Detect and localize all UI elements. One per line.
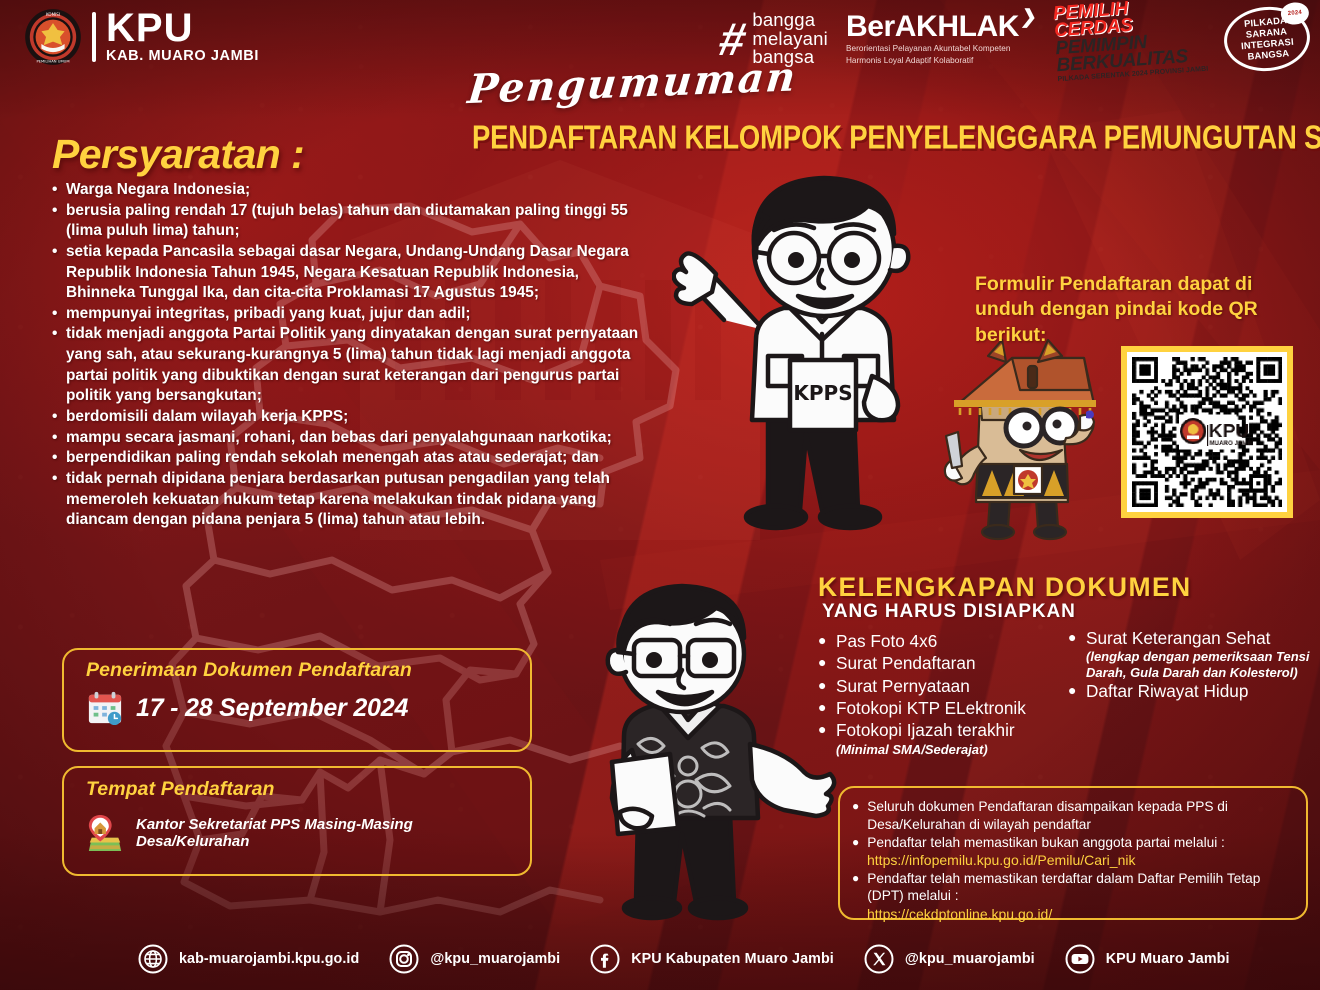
- bullet-icon: •: [52, 324, 60, 345]
- penerimaan-date-value: 17 - 28 September 2024: [136, 694, 408, 723]
- document-item: ●Surat Keterangan Sehat: [1068, 627, 1318, 649]
- qr-code-frame[interactable]: [1121, 346, 1293, 518]
- kpps-badge-text: KPPS: [793, 381, 852, 405]
- bullet-icon: ●: [852, 870, 859, 887]
- note-text: Pendaftar telah memastikan bukan anggota…: [867, 834, 1225, 852]
- requirement-text: mempunyai integritas, pribadi yang kuat,…: [66, 304, 652, 325]
- document-item: ●Daftar Riwayat Hidup: [1068, 680, 1318, 702]
- bullet-icon: •: [52, 242, 60, 263]
- bullet-icon: •: [52, 469, 60, 490]
- footer-social-label: @kpu_muarojambi: [430, 951, 560, 967]
- document-label: Fotokopi Ijazah terakhir: [836, 719, 1015, 741]
- penerimaan-dokumen-card: Penerimaan Dokumen Pendaftaran 17 - 28 S…: [62, 648, 532, 752]
- note-link[interactable]: https://cekdptonline.kpu.go.id/: [867, 905, 1292, 923]
- tempat-pendaftaran-card: Tempat Pendaftaran Kantor Sekretariat PP…: [62, 766, 532, 876]
- bullet-icon: ●: [1068, 680, 1077, 700]
- bullet-icon: ●: [852, 834, 859, 851]
- kelengkapan-left-item: ●Fotokopi KTP ELektronik: [818, 697, 1058, 719]
- ballot-box-mascot-illustration: [928, 338, 1114, 544]
- penerimaan-card-title: Penerimaan Dokumen Pendaftaran: [86, 659, 530, 682]
- tempat-value: Kantor Sekretariat PPS Masing-Masing Des…: [136, 816, 530, 850]
- kpu-seal-icon: KOMISI PEMILIHAN UMUM: [24, 8, 82, 66]
- page-title: PENDAFTARAN KELOMPOK PENYELENGGARA PEMUN…: [472, 118, 1320, 157]
- pilkada-badge-year: 2024: [1280, 1, 1310, 25]
- requirement-text: berdomisili dalam wilayah kerja KPPS;: [66, 407, 652, 428]
- bullet-icon: •: [52, 201, 60, 222]
- bullet-icon: •: [52, 407, 60, 428]
- bullet-icon: •: [52, 428, 60, 449]
- bangga-line-1: bangga: [752, 11, 828, 30]
- requirement-item: •mampu secara jasmani, rohani, dan bebas…: [52, 428, 652, 449]
- kelengkapan-column-right: ●Surat Keterangan Sehat(lengkap dengan p…: [1068, 627, 1318, 702]
- document-label: Pas Foto 4x6: [836, 630, 937, 652]
- kpu-logo-lockup: KOMISI PEMILIHAN UMUM KPU KAB. MUARO JAM…: [24, 8, 259, 66]
- bullet-icon: ●: [818, 719, 827, 739]
- document-label: Surat Pendaftaran: [836, 652, 976, 674]
- requirement-item: •setia kepada Pancasila sebagai dasar Ne…: [52, 242, 652, 304]
- kelengkapan-column-left: ●Pas Foto 4x6●Surat Pendaftaran●Surat Pe…: [818, 630, 1058, 757]
- poster-canvas: KOMISI PEMILIHAN UMUM KPU KAB. MUARO JAM…: [0, 0, 1320, 990]
- footer-social-item[interactable]: kab-muarojambi.kpu.go.id: [138, 944, 359, 974]
- note-link[interactable]: https://infopemilu.kpu.go.id/Pemilu/Cari…: [867, 851, 1292, 869]
- requirement-item: •berpendidikan paling rendah sekolah men…: [52, 448, 652, 469]
- svg-text:KOMISI: KOMISI: [46, 12, 60, 17]
- bullet-icon: ●: [818, 630, 827, 650]
- requirement-text: Warga Negara Indonesia;: [66, 180, 652, 201]
- footer-social-item[interactable]: KPU Kabupaten Muaro Jambi: [590, 944, 834, 974]
- note-text: Seluruh dokumen Pendaftaran disampaikan …: [867, 798, 1292, 834]
- requirement-item: •tidak pernah dipidana penjara berdasark…: [52, 469, 652, 531]
- bullet-icon: ●: [818, 675, 827, 695]
- note-text: Pendaftar telah memastikan terdaftar dal…: [867, 870, 1292, 906]
- requirement-text: berusia paling rendah 17 (tujuh belas) t…: [66, 201, 652, 242]
- requirement-item: •mempunyai integritas, pribadi yang kuat…: [52, 304, 652, 325]
- requirements-heading: Persyaratan :: [52, 131, 304, 178]
- requirement-text: tidak menjadi anggota Partai Politik yan…: [66, 324, 652, 407]
- logo-divider: [92, 12, 96, 62]
- kelengkapan-dokumen-subtitle: YANG HARUS DISIAPKAN: [822, 601, 1076, 623]
- facebook-icon[interactable]: [590, 944, 620, 974]
- bullet-icon: •: [52, 180, 60, 201]
- document-label: Surat Keterangan Sehat: [1086, 627, 1270, 649]
- footer-social-label: KPU Muaro Jambi: [1106, 951, 1230, 967]
- footer-social-label: kab-muarojambi.kpu.go.id: [179, 951, 359, 967]
- document-note: (lengkap dengan pemeriksaan Tensi Darah,…: [1086, 649, 1318, 679]
- bullet-icon: ●: [818, 697, 827, 717]
- calendar-icon: [86, 690, 124, 726]
- document-label: Fotokopi KTP ELektronik: [836, 697, 1026, 719]
- map-pin-icon: [86, 813, 124, 853]
- document-note: (Minimal SMA/Sederajat): [836, 742, 1058, 757]
- document-item: ●Fotokopi KTP ELektronik: [818, 697, 1058, 719]
- footer-social-label: KPU Kabupaten Muaro Jambi: [631, 951, 834, 967]
- document-item: ●Surat Pernyataan: [818, 675, 1058, 697]
- kelengkapan-right-item: ●Surat Keterangan Sehat(lengkap dengan p…: [1068, 627, 1318, 680]
- requirements-list: •Warga Negara Indonesia;•berusia paling …: [52, 180, 652, 531]
- requirement-text: tidak pernah dipidana penjara berdasarka…: [66, 469, 652, 531]
- document-item: ●Pas Foto 4x6: [818, 630, 1058, 652]
- bullet-icon: •: [52, 448, 60, 469]
- globe-icon[interactable]: [138, 944, 168, 974]
- requirement-item: •Warga Negara Indonesia;: [52, 180, 652, 201]
- instagram-icon[interactable]: [389, 944, 419, 974]
- kpps-officer-illustration: KPPS: [672, 162, 972, 544]
- requirement-item: •berdomisili dalam wilayah kerja KPPS;: [52, 407, 652, 428]
- document-item: ●Fotokopi Ijazah terakhir: [818, 719, 1058, 741]
- note-entry: ●Pendaftar telah memastikan terdaftar da…: [852, 870, 1292, 924]
- requirement-text: setia kepada Pancasila sebagai dasar Neg…: [66, 242, 652, 304]
- document-item: ●Surat Pendaftaran: [818, 652, 1058, 674]
- bullet-icon: •: [52, 304, 60, 325]
- kelengkapan-right-item: ●Daftar Riwayat Hidup: [1068, 680, 1318, 702]
- footer-social-item[interactable]: @kpu_muarojambi: [389, 944, 560, 974]
- footer-social-item[interactable]: KPU Muaro Jambi: [1065, 944, 1230, 974]
- requirement-item: •tidak menjadi anggota Partai Politik ya…: [52, 324, 652, 407]
- tempat-card-title: Tempat Pendaftaran: [86, 778, 530, 801]
- document-label: Daftar Riwayat Hidup: [1086, 680, 1248, 702]
- bullet-icon: ●: [818, 652, 827, 672]
- requirement-text: mampu secara jasmani, rohani, dan bebas …: [66, 428, 652, 449]
- qr-code-image[interactable]: [1132, 357, 1282, 507]
- youtube-icon[interactable]: [1065, 944, 1095, 974]
- footer-social-item[interactable]: @kpu_muarojambi: [864, 944, 1035, 974]
- requirement-text: berpendidikan paling rendah sekolah mene…: [66, 448, 652, 469]
- batik-man-illustration: [578, 566, 840, 938]
- note-item: ●Pendaftar telah memastikan bukan anggot…: [852, 834, 1292, 852]
- kelengkapan-dokumen-title: KELENGKAPAN DOKUMEN: [818, 572, 1192, 603]
- note-item: ●Seluruh dokumen Pendaftaran disampaikan…: [852, 798, 1292, 834]
- x-twitter-icon[interactable]: [864, 944, 894, 974]
- kelengkapan-left-item: ●Surat Pendaftaran: [818, 652, 1058, 674]
- berakhlak-word: BerAKHLAK: [846, 12, 1019, 42]
- title-block: Pengumuman PENDAFTARAN KELOMPOK PENYELEN…: [468, 66, 1320, 150]
- kelengkapan-left-item: ●Fotokopi Ijazah terakhir(Minimal SMA/Se…: [818, 719, 1058, 757]
- note-entry: ●Seluruh dokumen Pendaftaran disampaikan…: [852, 798, 1292, 834]
- qr-caption: Formulir Pendaftaran dapat di unduh deng…: [975, 272, 1275, 348]
- document-label: Surat Pernyataan: [836, 675, 970, 697]
- footer-social-bar: kab-muarojambi.kpu.go.id@kpu_muarojambiK…: [0, 936, 1320, 982]
- footer-social-label: @kpu_muarojambi: [905, 951, 1035, 967]
- svg-text:PEMILIHAN UMUM: PEMILIHAN UMUM: [36, 60, 69, 64]
- chevron-right-icon: ❯: [1019, 6, 1038, 29]
- kpu-wordmark: KPU KAB. MUARO JAMBI: [106, 10, 259, 63]
- bullet-icon: ●: [1068, 627, 1077, 647]
- note-entry: ●Pendaftar telah memastikan bukan anggot…: [852, 834, 1292, 870]
- kelengkapan-left-item: ●Pas Foto 4x6: [818, 630, 1058, 652]
- hash-icon: #: [716, 21, 749, 58]
- notes-box: ●Seluruh dokumen Pendaftaran disampaikan…: [838, 786, 1308, 920]
- berakhlak-top: BerAKHLAK ❯: [846, 12, 1037, 42]
- note-item: ●Pendaftar telah memastikan terdaftar da…: [852, 870, 1292, 906]
- kelengkapan-left-item: ●Surat Pernyataan: [818, 675, 1058, 697]
- requirement-item: •berusia paling rendah 17 (tujuh belas) …: [52, 201, 652, 242]
- bullet-icon: ●: [852, 798, 859, 815]
- kpu-logo-sub: KAB. MUARO JAMBI: [106, 49, 259, 64]
- kpu-logo-main: KPU: [106, 10, 259, 47]
